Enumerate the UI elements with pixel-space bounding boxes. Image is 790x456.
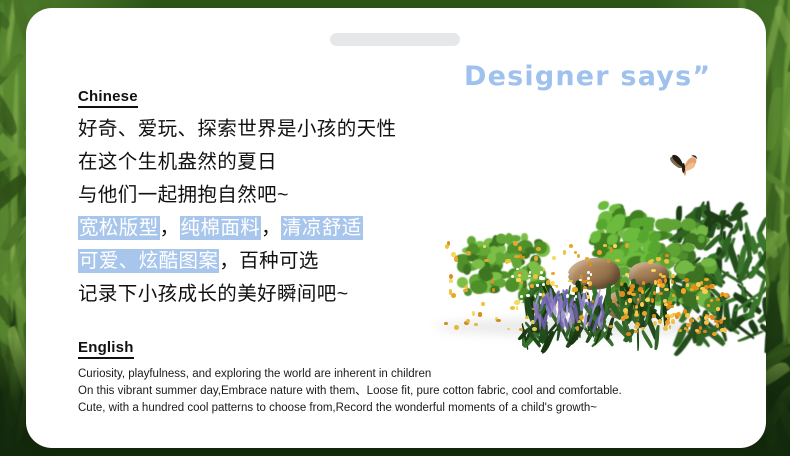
english-line: Curiosity, playfulness, and exploring th… — [78, 366, 622, 383]
bamboo-leaf — [772, 280, 790, 345]
screenshot-root: Designer says” Chinese 好奇、爱玩、探索世界是小孩的天性在… — [0, 0, 790, 456]
yellow-flower — [648, 260, 653, 264]
yellow-flower — [449, 279, 453, 283]
chinese-line: 记录下小孩成长的美好瞬间吧~ — [78, 278, 396, 311]
chinese-heading: Chinese — [78, 88, 138, 108]
yellow-flower — [569, 244, 574, 248]
plain-phrase: ，百种可选 — [219, 250, 319, 272]
yellow-flower — [572, 287, 577, 292]
yellow-flower — [580, 275, 583, 279]
designer-says-heading: Designer says” — [464, 61, 711, 92]
yellow-flower — [707, 304, 710, 307]
highlighted-phrase: 可爱、炫酷图案 — [78, 249, 219, 273]
yellow-flower — [642, 281, 645, 284]
plain-phrase: 在这个生机盎然的夏日 — [78, 151, 277, 173]
yellow-flower — [625, 243, 629, 248]
yellow-flower — [667, 301, 672, 305]
chinese-lines: 好奇、爱玩、探索世界是小孩的天性在这个生机盎然的夏日与他们一起拥抱自然吧~宽松版… — [78, 113, 396, 311]
yellow-flower — [552, 256, 556, 260]
yellow-flower — [681, 288, 686, 293]
yellow-flower — [619, 291, 624, 296]
plain-phrase: ， — [160, 217, 180, 239]
white-flower — [562, 278, 564, 281]
yellow-flower — [676, 312, 680, 317]
bush-foliage — [471, 281, 487, 295]
english-line: Cute, with a hundred cool patterns to ch… — [78, 400, 622, 417]
yellow-flower — [516, 306, 519, 310]
yellow-flower — [492, 288, 495, 292]
yellow-flower — [481, 302, 484, 306]
yellow-flower — [710, 299, 714, 302]
yellow-flower — [510, 306, 515, 309]
english-heading: English — [78, 339, 134, 359]
white-flower — [564, 275, 567, 278]
yellow-flower — [652, 314, 655, 318]
ground-shadow — [436, 318, 736, 336]
yellow-flower — [445, 244, 449, 249]
yellow-flower — [615, 259, 620, 262]
white-flower — [585, 289, 588, 291]
content-card: Designer says” Chinese 好奇、爱玩、探索世界是小孩的天性在… — [26, 8, 766, 448]
white-flower — [526, 294, 529, 297]
chinese-line: 好奇、爱玩、探索世界是小孩的天性 — [78, 113, 396, 146]
yellow-flower — [664, 278, 667, 283]
white-flower — [520, 295, 523, 298]
yellow-flower — [716, 298, 720, 301]
white-flower — [587, 282, 589, 285]
english-lines: Curiosity, playfulness, and exploring th… — [78, 366, 622, 417]
yellow-flower — [451, 293, 456, 298]
white-flower — [590, 273, 593, 275]
highlighted-phrase: 纯棉面料 — [180, 216, 262, 240]
white-flower — [540, 271, 543, 274]
broadleaf-foliage — [598, 201, 609, 210]
white-flower — [564, 286, 567, 289]
chinese-line: 与他们一起拥抱自然吧~ — [78, 179, 396, 212]
yellow-flower — [613, 244, 617, 248]
bush-foliage — [666, 219, 681, 230]
white-flower — [556, 267, 559, 270]
bush-foliage — [505, 233, 513, 244]
yellow-flower — [466, 251, 471, 254]
bush-foliage — [701, 258, 715, 266]
yellow-flower — [716, 307, 720, 311]
yellow-flower — [514, 300, 519, 305]
yellow-flower — [670, 305, 674, 308]
garden-illustration — [426, 178, 766, 333]
yellow-flower — [696, 296, 699, 300]
chinese-line: 可爱、炫酷图案，百种可选 — [78, 245, 396, 278]
yellow-flower — [683, 309, 687, 314]
bush-foliage — [528, 261, 539, 270]
yellow-flower — [645, 298, 650, 301]
plain-phrase: 与他们一起拥抱自然吧~ — [78, 184, 289, 206]
yellow-flower — [709, 284, 714, 289]
white-flower — [552, 286, 555, 288]
white-flower — [569, 282, 571, 285]
plain-phrase: ， — [261, 217, 281, 239]
speaker-pill — [330, 33, 460, 46]
plain-phrase: 记录下小孩成长的美好瞬间吧~ — [78, 283, 349, 305]
yellow-flower — [534, 256, 539, 261]
yellow-flower — [651, 298, 654, 303]
white-flower — [528, 275, 531, 277]
yellow-flower — [653, 291, 656, 295]
yellow-flower — [505, 259, 510, 264]
yellow-flower — [704, 316, 707, 321]
yellow-flower — [484, 259, 489, 262]
english-line: On this vibrant summer day,Embrace natur… — [78, 383, 622, 400]
yellow-flower — [589, 262, 592, 267]
highlighted-phrase: 清凉舒适 — [281, 216, 363, 240]
yellow-flower — [651, 269, 656, 272]
white-flower — [575, 295, 578, 298]
yellow-flower — [597, 250, 602, 255]
yellow-flower — [451, 252, 455, 257]
white-flower — [520, 300, 523, 302]
yellow-flower — [472, 311, 475, 316]
yellow-flower — [478, 312, 483, 316]
white-flower — [539, 276, 542, 280]
yellow-flower — [530, 284, 533, 288]
white-flower — [516, 268, 519, 270]
yellow-flower — [656, 257, 660, 260]
white-flower — [539, 293, 541, 296]
yellow-flower — [516, 278, 520, 281]
yellow-flower — [627, 291, 632, 295]
white-flower — [573, 285, 576, 287]
yellow-flower — [642, 311, 647, 316]
highlighted-phrase: 宽松版型 — [78, 216, 160, 240]
butterfly-icon — [667, 151, 701, 179]
yellow-flower — [521, 256, 524, 260]
yellow-flower — [563, 250, 566, 255]
chinese-line: 在这个生机盎然的夏日 — [78, 146, 396, 179]
yellow-flower — [654, 280, 657, 285]
white-flower — [555, 271, 558, 273]
broadleaf-foliage — [590, 231, 600, 243]
yellow-flower — [449, 274, 453, 279]
white-flower — [554, 290, 557, 292]
yellow-flower — [625, 273, 629, 276]
white-flower — [536, 284, 538, 287]
chinese-line: 宽松版型，纯棉面料，清凉舒适 — [78, 212, 396, 245]
plain-phrase: 好奇、爱玩、探索世界是小孩的天性 — [78, 118, 396, 140]
yellow-flower — [671, 280, 674, 283]
yellow-flower — [577, 254, 580, 258]
yellow-flower — [635, 311, 638, 316]
bush-foliage — [688, 250, 695, 263]
bush-foliage — [487, 253, 496, 263]
bush-foliage — [463, 264, 471, 275]
